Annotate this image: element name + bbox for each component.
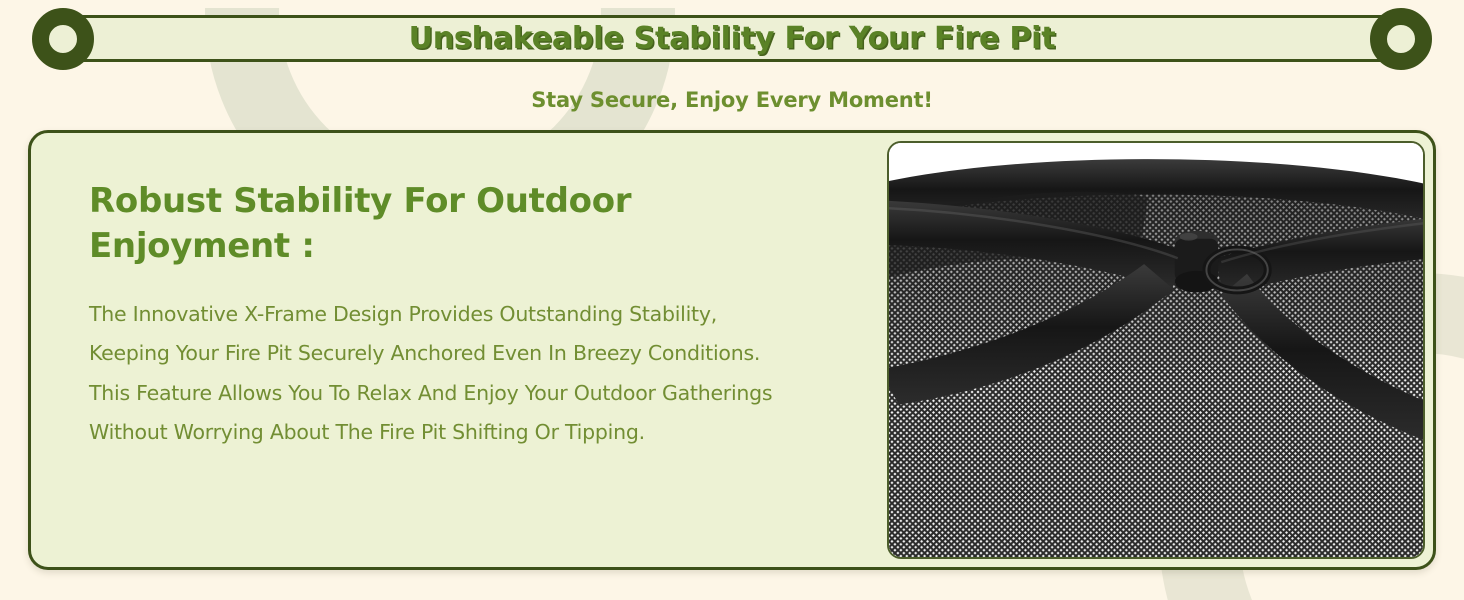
header-banner: Unshakeable Stability For Your Fire Pit — [28, 8, 1436, 68]
feature-card: Robust Stability For Outdoor Enjoyment :… — [28, 130, 1436, 570]
fire-pit-screen-illustration — [889, 143, 1423, 557]
ring-ornament-left-icon — [32, 8, 94, 70]
feature-description: The Innovative X-Frame Design Provides O… — [89, 295, 789, 453]
ring-ornament-right-icon — [1370, 8, 1432, 70]
header-banner-bar: Unshakeable Stability For Your Fire Pit — [66, 15, 1398, 62]
feature-heading: Robust Stability For Outdoor Enjoyment : — [89, 179, 689, 269]
page-title: Unshakeable Stability For Your Fire Pit — [409, 21, 1056, 56]
product-photo-image — [889, 143, 1423, 557]
product-photo — [887, 141, 1425, 559]
page-subtitle: Stay Secure, Enjoy Every Moment! — [0, 88, 1464, 112]
feature-text-column: Robust Stability For Outdoor Enjoyment :… — [31, 133, 887, 567]
